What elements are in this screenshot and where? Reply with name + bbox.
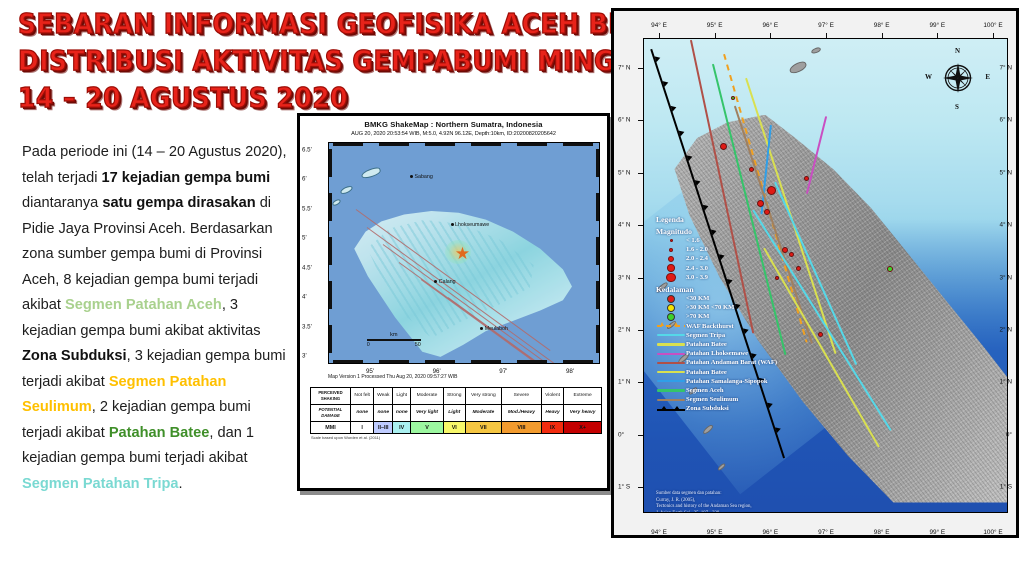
shakemap-frame-tick xyxy=(596,149,599,177)
shakemap-frame-tick xyxy=(596,237,599,265)
legend-fault-swatch xyxy=(656,389,686,391)
legend-fault-label: Patahan Samalanga-Sipopok xyxy=(686,378,768,385)
legend-fault-label: Patahan Batee xyxy=(686,341,727,348)
shakemap-frame-tick xyxy=(517,143,547,146)
shakemap-plot-wrap: ★ SabangLhokseumaweCalangMeulaboh km 0 5… xyxy=(328,142,601,364)
offshore-island xyxy=(810,47,821,55)
intensity-cell: Not felt xyxy=(351,388,374,405)
earthquake-epicenter-dot xyxy=(749,167,754,172)
map-x-tickmark xyxy=(993,33,994,38)
source-line-3: Tectonics and history of the Andaman Sea… xyxy=(656,504,752,511)
intensity-cell: Light xyxy=(443,405,465,422)
legend-fault-row: Zona Subduksi xyxy=(656,404,777,413)
legend-magnitude-title: Magnitudo xyxy=(656,227,777,236)
map-y-tick: 6° N xyxy=(999,117,1012,124)
scalebar-label: km xyxy=(367,332,421,338)
intensity-cell: IX xyxy=(541,422,563,434)
compass-north-label: N xyxy=(955,47,960,55)
intensity-cell: I xyxy=(351,422,374,434)
epicenter-star-icon: ★ xyxy=(455,246,471,262)
shakemap-frame-tick xyxy=(596,193,599,221)
legend-magnitude-dot xyxy=(656,256,686,262)
legend-magnitude-row: 2.0 - 2.4 xyxy=(656,254,777,263)
subduction-triangle-icon xyxy=(655,55,662,62)
map-x-tick: 100° E xyxy=(983,22,1002,29)
shakemap-x-tick: 97' xyxy=(499,366,507,375)
shakemap-frame-tick xyxy=(596,325,599,353)
legend-fault-row: WAF Backthurst xyxy=(656,322,777,331)
compass-rose-icon: N E S W xyxy=(935,55,981,101)
shakemap-frame-tick xyxy=(329,237,332,265)
highlight-segmen-patahan-aceh: Segmen Patahan Aceh xyxy=(65,297,222,313)
legend-magnitude-label: 2.0 - 2.4 xyxy=(686,255,708,262)
para-t3: di Pidie Jaya Provinsi Aceh. Berdasarkan… xyxy=(22,195,273,313)
shakemap-plot: ★ SabangLhokseumaweCalangMeulaboh km 0 5… xyxy=(328,142,600,364)
shakemap-frame-tick xyxy=(425,143,455,146)
legend-fault-label: Segmen Tripa xyxy=(686,332,725,339)
shakemap-city-label: Lhokseumawe xyxy=(451,222,490,228)
shakemap-frame-tick xyxy=(333,360,363,363)
offshore-island xyxy=(788,59,808,75)
map-x-tickmark xyxy=(715,33,716,38)
legend-magnitude-rows: < 1.61.6 - 2.02.0 - 2.42.4 - 3.03.0 - 3.… xyxy=(656,236,777,282)
scalebar-min: 0 xyxy=(367,342,370,348)
legend-magnitude-row: 2.4 - 3.0 xyxy=(656,264,777,273)
legend-magnitude-row: 1.6 - 2.0 xyxy=(656,245,777,254)
intensity-cell: II–III xyxy=(374,422,393,434)
map-y-tick: 4° N xyxy=(999,222,1012,229)
legend-fault-row: Patahan Samalanga-Sipopok xyxy=(656,377,777,386)
intensity-cell: none xyxy=(351,405,374,422)
map-x-tick: 96° E xyxy=(762,529,778,536)
map-y-tickmark xyxy=(638,278,643,279)
shakemap-y-tick: 3.5' xyxy=(302,323,328,330)
map-y-tickmark xyxy=(638,120,643,121)
shakemap-y-tick: 4' xyxy=(302,294,328,301)
intensity-cell: VIII xyxy=(502,422,542,434)
intensity-cell: VII xyxy=(465,422,501,434)
intensity-cell: Moderate xyxy=(465,405,501,422)
legend-fault-row: Segmen Aceh xyxy=(656,386,777,395)
legend-fault-label: Patahan Batee xyxy=(686,369,727,376)
earthquake-epicenter-dot xyxy=(767,186,776,195)
map-x-tick: 94° E xyxy=(651,529,667,536)
legend-fault-row: Segmen Tripa xyxy=(656,331,777,340)
legend-fault-swatch xyxy=(656,362,686,364)
map-y-tick: 3° N xyxy=(999,274,1012,281)
map-x-tick: 97° E xyxy=(818,22,834,29)
legend-fault-row: Patahan Batee xyxy=(656,367,777,376)
map-x-tickmark xyxy=(882,33,883,38)
intensity-cell: none xyxy=(393,405,411,422)
legend-fault-swatch xyxy=(656,406,686,412)
para-b2: satu gempa dirasakan xyxy=(102,195,255,211)
map-y-tickmark xyxy=(638,68,643,69)
legend-fault-row: Patahan Batee xyxy=(656,340,777,349)
shakemap-y-tick: 4.5' xyxy=(302,264,328,271)
intensity-row-label: MMI xyxy=(311,422,351,434)
legend-fault-label: Segmen Aceh xyxy=(686,387,724,394)
legend-fault-rows: WAF BackthurstSegmen TripaPatahan BateeP… xyxy=(656,322,777,414)
para-t2: diantaranya xyxy=(22,195,102,211)
shakemap-subtitle: AUG 20, 2020 20:53:54 WIB, M:5.0, 4.92N … xyxy=(300,131,607,137)
legend-depth-dot xyxy=(656,304,686,312)
map-y-tick: 2° N xyxy=(618,326,631,333)
shakemap-frame-tick xyxy=(329,193,332,221)
shakemap-city-label: Calang xyxy=(434,279,455,285)
intensity-cell: Very heavy xyxy=(564,405,602,422)
intensity-cell: none xyxy=(374,405,393,422)
intensity-row-label: POTENTIAL DAMAGE xyxy=(311,405,351,422)
legend-fault-row: Segmen Seulimum xyxy=(656,395,777,404)
shakemap-frame-tick xyxy=(517,360,547,363)
shakemap-scalebar: km 0 50 xyxy=(367,332,421,348)
intensity-table-footnote: Scale based upon Worden et al. (2011) xyxy=(311,435,607,440)
shakemap-city-label: Sabang xyxy=(410,174,433,180)
map-x-tick: 98° E xyxy=(874,529,890,536)
map-x-tickmark xyxy=(937,33,938,38)
para-b1: 17 kejadian gempa bumi xyxy=(102,170,271,186)
legend-magnitude-row: < 1.6 xyxy=(656,236,777,245)
map-legend: Legenda Magnitudo < 1.61.6 - 2.02.0 - 2.… xyxy=(656,215,777,413)
legend-title: Legenda xyxy=(656,215,777,224)
map-x-tick: 95° E xyxy=(707,22,723,29)
legend-magnitude-label: 1.6 - 2.0 xyxy=(686,246,708,253)
shakemap-panel: BMKG ShakeMap : Northern Sumatra, Indone… xyxy=(297,113,610,491)
shakemap-frame-tick xyxy=(563,360,593,363)
intensity-cell: Light xyxy=(393,388,411,405)
compass-east-label: E xyxy=(985,73,990,81)
legend-fault-swatch xyxy=(656,371,686,373)
shakemap-x-tick: 95' xyxy=(366,366,374,375)
map-y-tickmark xyxy=(638,330,643,331)
legend-fault-swatch xyxy=(656,380,686,382)
shakemap-x-tick: 96' xyxy=(433,366,441,375)
legend-magnitude-dot xyxy=(656,239,686,242)
intensity-cell: X+ xyxy=(564,422,602,434)
legend-fault-swatch xyxy=(656,353,686,355)
legend-depth-row: <30 KM xyxy=(656,294,777,303)
shakemap-frame-tick xyxy=(596,281,599,309)
map-y-tick: 7° N xyxy=(618,65,631,72)
intensity-cell: Very strong xyxy=(465,388,501,405)
intensity-cell: Weak xyxy=(374,388,393,405)
intensity-cell: V xyxy=(411,422,444,434)
legend-magnitude-dot xyxy=(656,273,686,283)
legend-fault-row: Patahan Lhoksemawe xyxy=(656,349,777,358)
shakemap-frame-tick xyxy=(425,360,455,363)
legend-fault-swatch xyxy=(656,399,686,401)
summary-paragraph: Pada periode ini (14 – 20 Agustus 2020),… xyxy=(22,140,290,497)
para-t8: . xyxy=(179,476,183,492)
legend-depth-rows: <30 KM>30 KM <70 KM>70 KM xyxy=(656,294,777,322)
legend-magnitude-label: 2.4 - 3.0 xyxy=(686,265,708,272)
intensity-cell: Strong xyxy=(443,388,465,405)
shakemap-y-tick: 6.5' xyxy=(302,147,328,154)
intensity-cell: Severe xyxy=(502,388,542,405)
intensity-cell: IV xyxy=(393,422,411,434)
legend-fault-swatch xyxy=(656,343,686,345)
legend-fault-swatch xyxy=(656,323,686,329)
intensity-table-row: MMIIII–IIIIVVVIVIIVIIIIXX+ xyxy=(311,422,602,434)
map-x-tick: 99° E xyxy=(929,529,945,536)
scalebar-bar xyxy=(367,339,421,341)
intensity-cell: Heavy xyxy=(541,405,563,422)
legend-depth-dot xyxy=(656,313,686,321)
legend-fault-label: WAF Backthurst xyxy=(686,323,734,330)
map-x-tick: 100° E xyxy=(983,529,1002,536)
map-y-tick: 1° N xyxy=(618,379,631,386)
shakemap-frame-tick xyxy=(471,360,501,363)
shakemap-x-tick: 98' xyxy=(566,366,574,375)
map-y-tick: 0° xyxy=(618,431,624,438)
intensity-table-row: PERCEIVED SHAKINGNot feltWeakLightModera… xyxy=(311,388,602,405)
scalebar-max: 50 xyxy=(415,342,421,348)
shakemap-y-tick: 6' xyxy=(302,176,328,183)
earthquake-epicenter-dot xyxy=(782,247,788,253)
legend-depth-label: >70 KM xyxy=(686,313,709,320)
map-y-tick: 5° N xyxy=(618,169,631,176)
map-y-tick: 6° N xyxy=(618,117,631,124)
legend-depth-title: Kedalaman xyxy=(656,285,777,294)
intensity-table: PERCEIVED SHAKINGNot feltWeakLightModera… xyxy=(310,387,602,434)
compass-west-label: W xyxy=(925,73,932,81)
map-x-tickmark xyxy=(659,33,660,38)
map-y-tickmark xyxy=(638,382,643,383)
intensity-cell: Mod./Heavy xyxy=(502,405,542,422)
map-y-tick: 2° N xyxy=(999,326,1012,333)
intensity-table-row: POTENTIAL DAMAGEnonenonenoneVery lightLi… xyxy=(311,405,602,422)
map-y-tickmark xyxy=(638,487,643,488)
legend-fault-label: Patahan Andaman Barat (WAF) xyxy=(686,359,777,366)
map-y-tick: 0° xyxy=(1006,431,1012,438)
map-y-tickmark xyxy=(638,225,643,226)
source-line-4: J. Asian Earth Sci., 25, 187 - 228. xyxy=(656,511,752,513)
shakemap-y-tick: 5' xyxy=(302,235,328,242)
legend-magnitude-dot xyxy=(656,264,686,272)
legend-magnitude-label: < 1.6 xyxy=(686,237,700,244)
map-x-tick: 99° E xyxy=(929,22,945,29)
legend-fault-row: Patahan Andaman Barat (WAF) xyxy=(656,358,777,367)
source-line-1: Sumber data segmen dan patahan: xyxy=(656,491,752,498)
highlight-patahan-batee: Patahan Batee xyxy=(109,425,210,441)
title-line-3: 14 – 20 AGUSTUS 2020 xyxy=(18,80,608,115)
intensity-cell: Extreme xyxy=(564,388,602,405)
map-y-tick: 1° S xyxy=(1000,484,1012,491)
regional-map-canvas: N E S W Legenda Magnitudo < 1.61.6 - 2.0… xyxy=(643,38,1008,513)
map-x-tickmark xyxy=(770,33,771,38)
intensity-cell: VI xyxy=(443,422,465,434)
subduction-triangle-icon xyxy=(679,130,686,137)
earthquake-epicenter-dot xyxy=(804,176,809,181)
shakemap-frame-tick xyxy=(563,143,593,146)
intensity-cell: Very light xyxy=(411,405,444,422)
legend-fault-label: Zona Subduksi xyxy=(686,405,729,412)
intensity-cell: Moderate xyxy=(411,388,444,405)
map-x-tick: 95° E xyxy=(707,529,723,536)
intensity-cell: Violent xyxy=(541,388,563,405)
title-line-1: SEBARAN INFORMASI GEOFISIKA ACEH BESAR xyxy=(18,6,608,41)
shakemap-frame-tick xyxy=(471,143,501,146)
legend-depth-label: <30 KM xyxy=(686,295,709,302)
map-x-tickmark xyxy=(826,33,827,38)
legend-fault-label: Segmen Seulimum xyxy=(686,396,738,403)
earthquake-epicenter-dot xyxy=(731,96,735,100)
legend-depth-row: >30 KM <70 KM xyxy=(656,303,777,312)
map-sources: Sumber data segmen dan patahan: Curray, … xyxy=(656,491,752,513)
slide-root: SEBARAN INFORMASI GEOFISIKA ACEH BESAR D… xyxy=(0,0,1024,576)
legend-magnitude-dot xyxy=(656,248,686,253)
legend-depth-dot xyxy=(656,295,686,303)
shakemap-frame-tick xyxy=(379,360,409,363)
legend-depth-label: >30 KM <70 KM xyxy=(686,304,734,311)
shakemap-y-tick: 5.5' xyxy=(302,205,328,212)
compass-south-label: S xyxy=(955,103,959,111)
title-line-2: DISTRIBUSI AKTIVITAS GEMPABUMI MINGGUAN xyxy=(18,43,608,78)
shakemap-title: BMKG ShakeMap : Northern Sumatra, Indone… xyxy=(300,120,607,129)
map-y-tick: 7° N xyxy=(999,65,1012,72)
map-x-tick: 98° E xyxy=(874,22,890,29)
subduction-triangle-icon xyxy=(663,80,670,87)
shakemap-frame-tick xyxy=(379,143,409,146)
shakemap-frame-tick xyxy=(329,281,332,309)
page-title: SEBARAN INFORMASI GEOFISIKA ACEH BESAR D… xyxy=(18,6,608,111)
highlight-segmen-patahan-tripa: Segmen Patahan Tripa xyxy=(22,476,179,492)
legend-fault-label: Patahan Lhoksemawe xyxy=(686,350,748,357)
regional-map-panel: N E S W Legenda Magnitudo < 1.61.6 - 2.0… xyxy=(611,8,1019,538)
map-x-tick: 94° E xyxy=(651,22,667,29)
shakemap-city-label: Meulaboh xyxy=(480,326,508,332)
map-y-tick: 3° N xyxy=(618,274,631,281)
shakemap-frame-tick xyxy=(329,149,332,177)
shakemap-y-tick: 3' xyxy=(302,353,328,360)
map-y-tick: 1° S xyxy=(618,484,630,491)
map-y-tick: 5° N xyxy=(999,169,1012,176)
legend-fault-swatch xyxy=(656,334,686,336)
intensity-row-label: PERCEIVED SHAKING xyxy=(311,388,351,405)
map-y-tick: 1° N xyxy=(999,379,1012,386)
map-x-tick: 96° E xyxy=(762,22,778,29)
map-y-tickmark xyxy=(638,173,643,174)
subduction-triangle-icon xyxy=(671,105,678,112)
legend-magnitude-label: 3.0 - 3.9 xyxy=(686,274,708,281)
para-b3: Zona Subduksi xyxy=(22,348,127,364)
shakemap-frame-tick xyxy=(333,143,363,146)
map-y-tick: 4° N xyxy=(618,222,631,229)
legend-magnitude-row: 3.0 - 3.9 xyxy=(656,273,777,282)
earthquake-epicenter-dot xyxy=(757,200,764,207)
map-x-tick: 97° E xyxy=(818,529,834,536)
shakemap-frame-tick xyxy=(329,325,332,353)
map-y-tickmark xyxy=(638,435,643,436)
legend-depth-row: >70 KM xyxy=(656,312,777,321)
